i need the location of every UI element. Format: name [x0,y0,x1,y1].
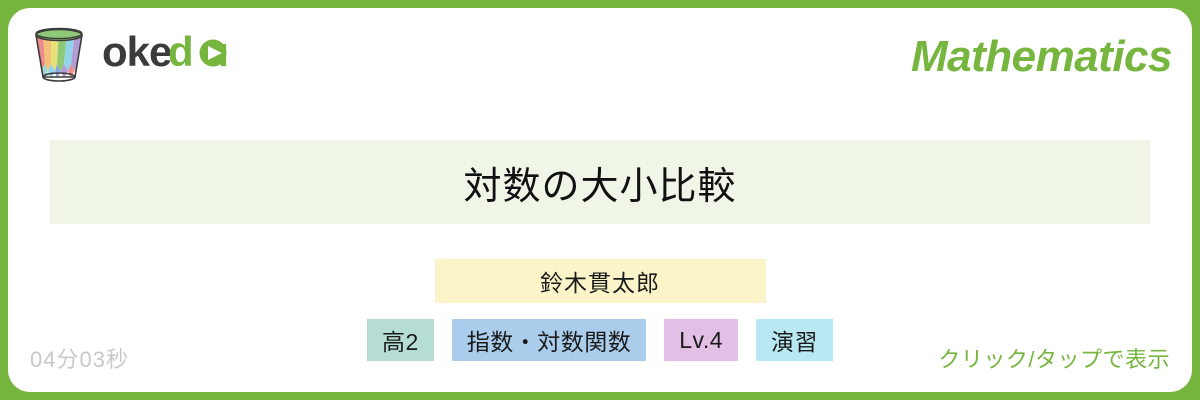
video-card-frame[interactable]: oke d u Mathematics 対数の大小比較 鈴木貫太郎 高2 指数・ [0,0,1200,400]
okedou-wordmark-icon: oke d u [102,28,292,78]
video-title-banner: 対数の大小比較 [50,140,1150,224]
instructor-row: 鈴木貫太郎 [8,259,1192,303]
tag-grade[interactable]: 高2 [367,319,434,361]
card-header: oke d u Mathematics [8,8,1192,116]
tag-level[interactable]: Lv.4 [664,319,738,361]
video-card[interactable]: oke d u Mathematics 対数の大小比較 鈴木貫太郎 高2 指数・ [8,8,1192,392]
instructor-name: 鈴木貫太郎 [540,264,660,298]
subject-label: Mathematics [911,32,1172,82]
instructor-band[interactable]: 鈴木貫太郎 [435,259,766,303]
pencil-cup-logo-icon [30,24,88,86]
reveal-hint[interactable]: クリック/タップで表示 [938,342,1170,374]
video-title: 対数の大小比較 [463,155,736,210]
video-duration: 04分03秒 [30,342,129,374]
tag-type[interactable]: 演習 [756,319,833,361]
brand-text-oke: oke [102,28,171,75]
brand-logo-group[interactable]: oke d u [30,24,292,86]
brand-wordmark: oke d u [102,28,292,82]
tag-topic[interactable]: 指数・対数関数 [452,319,647,361]
